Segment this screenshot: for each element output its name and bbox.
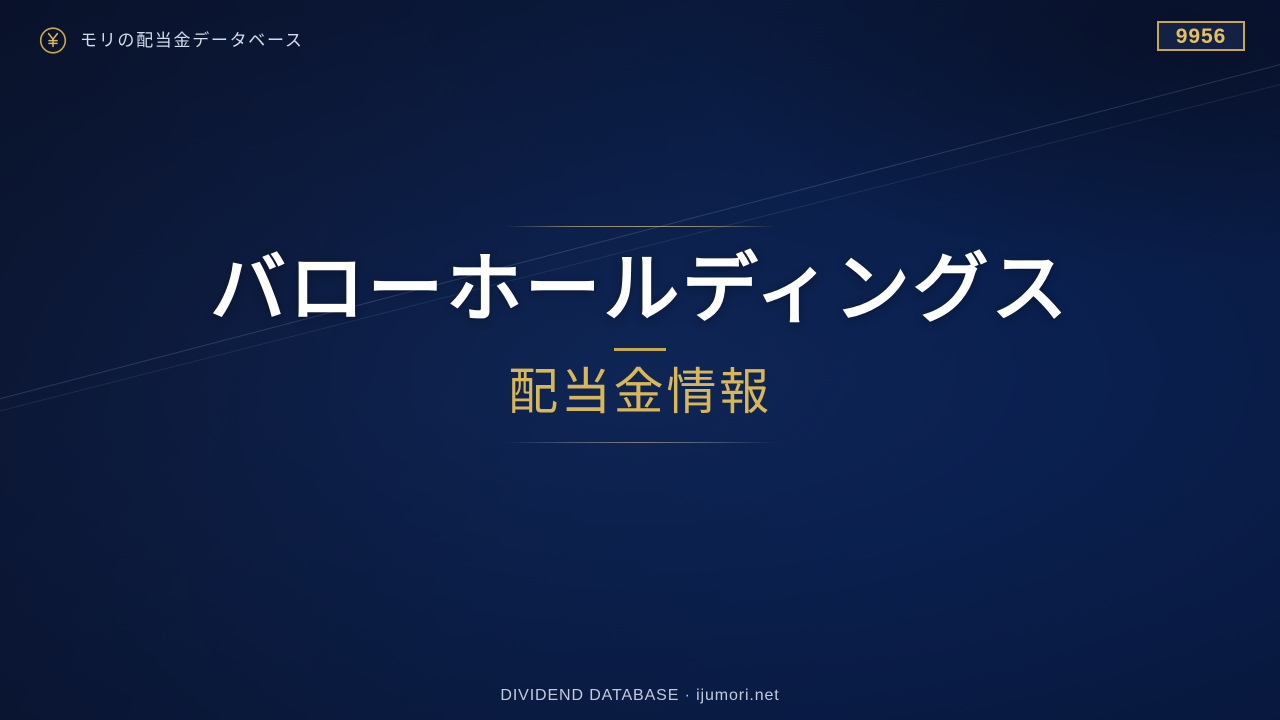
yen-circle-icon (38, 25, 68, 55)
brand[interactable]: モリの配当金データベース (38, 25, 304, 55)
footer-caption: DIVIDEND DATABASE · ijumori.net (0, 686, 1280, 705)
company-title: バローホールディングス (210, 247, 1070, 332)
hero-section: バローホールディングス 配当金情報 (0, 226, 1280, 443)
ticker-code-badge: 9956 (1157, 21, 1245, 51)
page-subtitle: 配当金情報 (508, 365, 772, 420)
page-header: モリの配当金データベース 9956 (0, 0, 1280, 72)
divider-bottom (504, 442, 776, 443)
divider-top (504, 226, 776, 227)
divider-gold-dash (614, 348, 666, 351)
brand-name: モリの配当金データベース (80, 32, 304, 49)
